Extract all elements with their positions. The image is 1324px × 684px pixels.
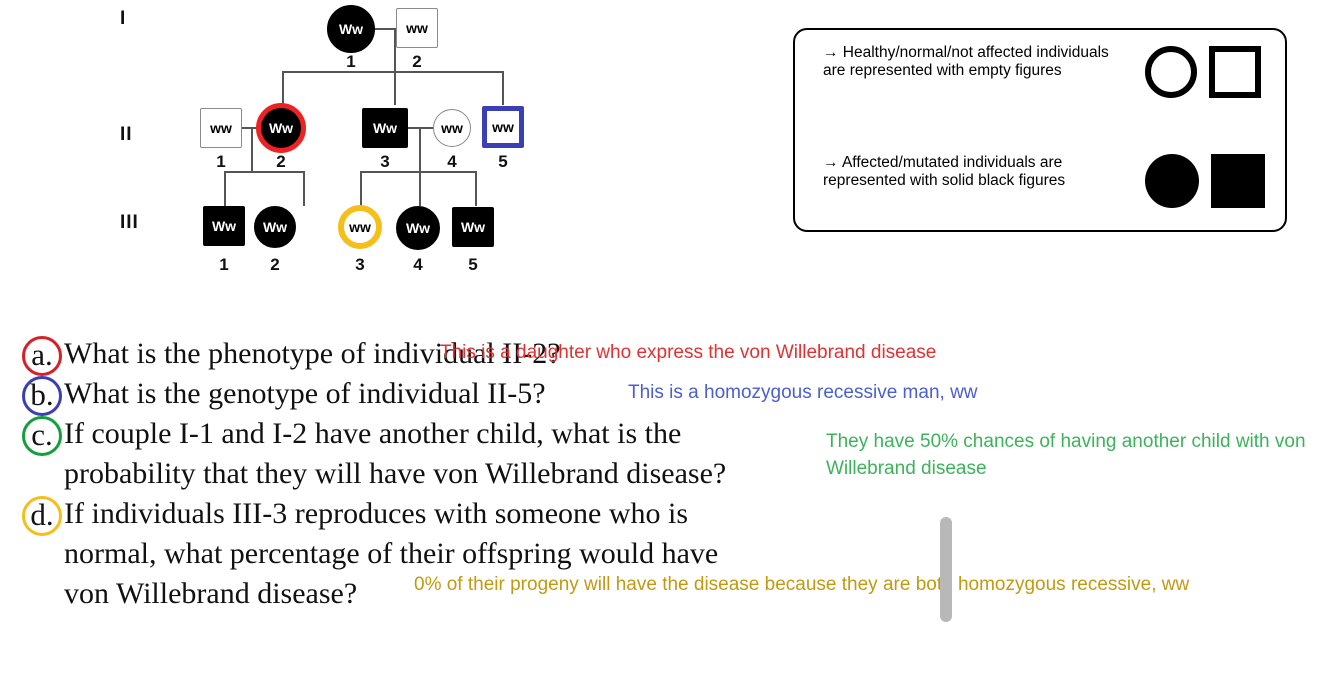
genotype-label: ww bbox=[210, 120, 232, 136]
pedigree-node-II-4[interactable]: ww bbox=[433, 109, 471, 147]
answer-text-c: They have 50% chances of having another … bbox=[826, 428, 1324, 482]
genotype-label: Ww bbox=[339, 21, 363, 37]
pedigree-number-III-3: 3 bbox=[338, 255, 382, 275]
pedigree-number-II-4: 4 bbox=[433, 152, 471, 172]
pedigree-number-II-1: 1 bbox=[200, 152, 242, 172]
pedigree-node-III-4[interactable]: Ww bbox=[396, 206, 440, 250]
questions-block: a. What is the phenotype of individual I… bbox=[0, 326, 1324, 646]
drop-line-III-3 bbox=[360, 171, 362, 206]
pedigree-number-I-2: 2 bbox=[396, 52, 438, 72]
descent-line-II-3-4 bbox=[419, 127, 421, 172]
answer-text-d: 0% of their progeny will have the diseas… bbox=[414, 571, 1189, 598]
bullet-label-d: d. bbox=[19, 499, 65, 530]
pedigree-node-II-2[interactable]: Ww bbox=[261, 108, 301, 148]
generation-label-III: III bbox=[120, 212, 139, 234]
pedigree-number-II-2: 2 bbox=[256, 152, 306, 172]
genotype-label: Ww bbox=[263, 219, 287, 235]
pedigree-number-II-3: 3 bbox=[362, 152, 408, 172]
drop-line-III-4 bbox=[419, 171, 421, 206]
genotype-label: ww bbox=[492, 119, 514, 135]
pedigree-number-II-5: 5 bbox=[482, 152, 524, 172]
pedigree-node-III-3[interactable]: ww bbox=[338, 205, 382, 249]
pedigree-node-III-5[interactable]: Ww bbox=[452, 207, 494, 247]
answer-text-b: This is a homozygous recessive man, ww bbox=[628, 379, 978, 406]
pedigree-node-II-1[interactable]: ww bbox=[200, 108, 242, 148]
pedigree-number-I-1: 1 bbox=[327, 52, 375, 72]
pedigree-node-II-3[interactable]: Ww bbox=[362, 108, 408, 148]
genotype-label: Ww bbox=[269, 120, 293, 136]
square-open-icon bbox=[1209, 46, 1261, 98]
question-text-b: What is the genotype of individual II-5? bbox=[64, 374, 546, 414]
square-filled-icon bbox=[1211, 154, 1265, 208]
drop-line-III-5 bbox=[475, 171, 477, 206]
generation-label-II: II bbox=[120, 124, 133, 146]
legend-box: → Healthy/normal/not affected individual… bbox=[793, 28, 1287, 232]
genotype-label: Ww bbox=[212, 218, 236, 234]
pedigree-number-III-1: 1 bbox=[203, 255, 245, 275]
legend-shapes-healthy bbox=[1145, 46, 1261, 98]
bullet-label-b: b. bbox=[19, 379, 65, 410]
pedigree-number-III-2: 2 bbox=[254, 255, 296, 275]
genotype-label: ww bbox=[441, 120, 463, 136]
scrollbar-thumb[interactable] bbox=[940, 517, 952, 622]
genotype-label: Ww bbox=[406, 220, 430, 236]
pedigree-number-III-4: 4 bbox=[396, 255, 440, 275]
bullet-label-a: a. bbox=[19, 339, 65, 370]
answer-text-a: This is a daughter who express the von W… bbox=[440, 339, 936, 366]
mating-line-II-3-4 bbox=[408, 127, 434, 129]
legend-shapes-affected bbox=[1145, 154, 1265, 208]
genotype-label: Ww bbox=[373, 120, 397, 136]
pedigree-node-III-2[interactable]: Ww bbox=[254, 206, 296, 248]
drop-line-II-2 bbox=[282, 71, 284, 105]
genotype-label: Ww bbox=[461, 219, 485, 235]
ghost-text bbox=[0, 612, 700, 628]
pedigree-number-III-5: 5 bbox=[452, 255, 494, 275]
question-text-c: If couple I-1 and I-2 have another child… bbox=[64, 414, 726, 494]
generation-label-I: I bbox=[120, 8, 126, 30]
legend-text-healthy: → Healthy/normal/not affected individual… bbox=[823, 44, 1123, 81]
genotype-label: ww bbox=[349, 219, 371, 235]
pedigree-node-II-5[interactable]: ww bbox=[482, 106, 524, 148]
drop-line-III-1 bbox=[224, 171, 226, 206]
drop-line-II-5 bbox=[502, 71, 504, 105]
drop-line-II-3 bbox=[394, 71, 396, 105]
pedigree-node-III-1[interactable]: Ww bbox=[203, 206, 245, 246]
descent-line-II-1-2 bbox=[251, 127, 253, 172]
circle-filled-icon bbox=[1145, 154, 1199, 208]
bullet-label-c: c. bbox=[19, 419, 65, 450]
pedigree-chart: I II III Ww 1 ww 2 ww 1 Ww 2 Ww 3 ww bbox=[0, 0, 560, 290]
legend-text-affected: → Affected/mutated individuals are repre… bbox=[823, 154, 1123, 191]
genotype-label: ww bbox=[406, 20, 428, 36]
pedigree-node-I-1[interactable]: Ww bbox=[327, 5, 375, 53]
pedigree-node-I-2[interactable]: ww bbox=[396, 8, 438, 48]
drop-line-III-2 bbox=[303, 171, 305, 206]
sibship-line-II bbox=[282, 71, 503, 73]
circle-open-icon bbox=[1145, 46, 1197, 98]
